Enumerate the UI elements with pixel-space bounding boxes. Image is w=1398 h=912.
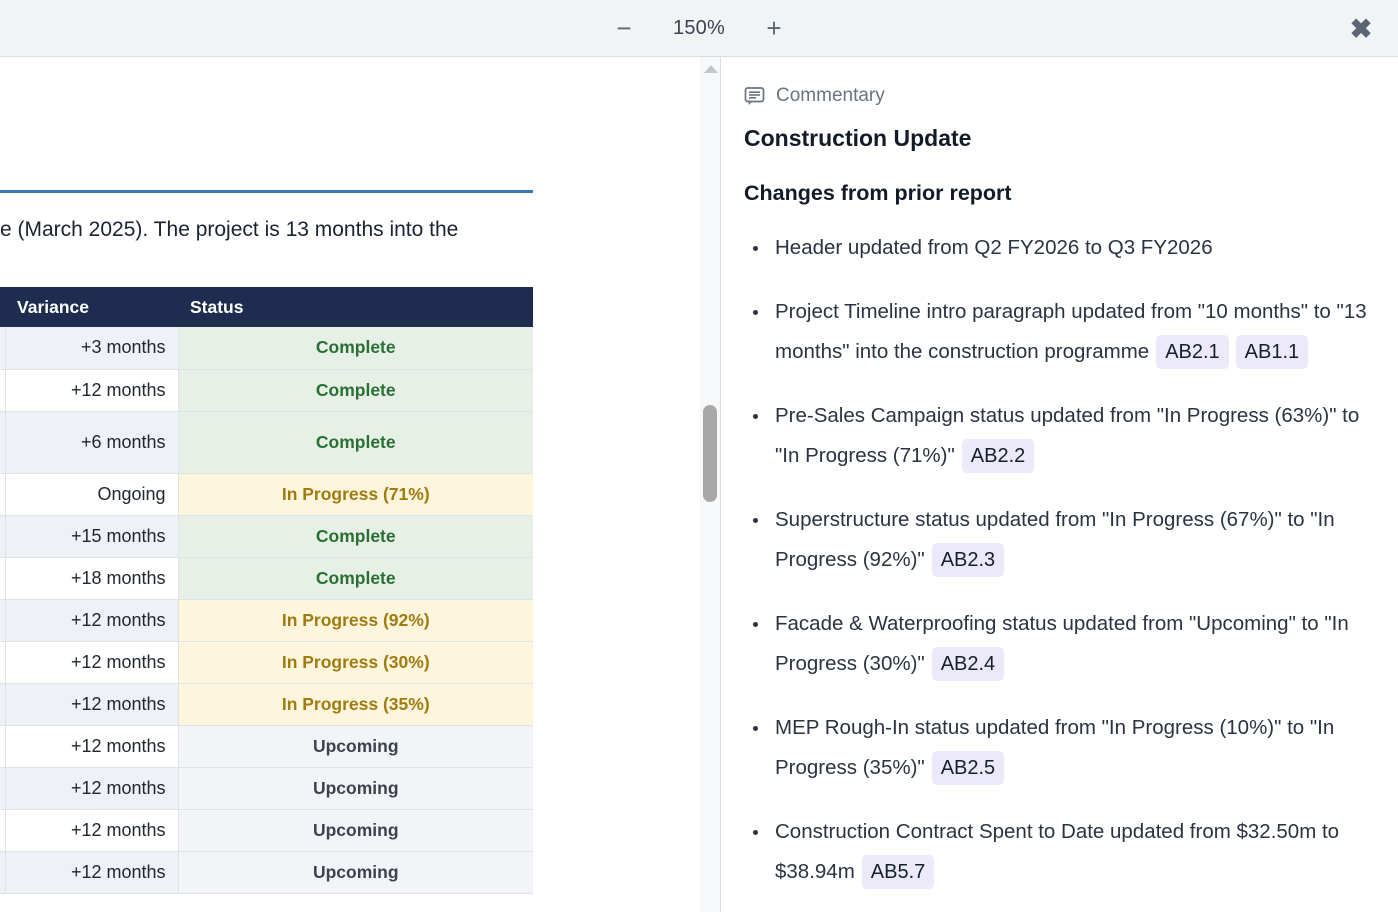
cell-status: In Progress (30%) [178,641,533,683]
cell-status: Upcoming [178,725,533,767]
reference-badge[interactable]: AB2.3 [932,543,1004,577]
table-row: OngoingIn Progress (71%) [0,473,533,515]
cell-status: In Progress (92%) [178,599,533,641]
cell-variance: +12 months [5,809,178,851]
section-divider-rule [0,190,533,193]
changes-list: Header updated from Q2 FY2026 to Q3 FY20… [744,228,1372,892]
cell-variance: +12 months [5,683,178,725]
commentary-title: Construction Update [744,125,1372,152]
change-item: MEP Rough-In status updated from "In Pro… [744,708,1372,788]
change-item-text: MEP Rough-In status updated from "In Pro… [775,716,1334,779]
zoom-out-button[interactable]: − [607,11,641,45]
reference-badge[interactable]: AB2.1 [1156,335,1228,369]
reference-badge[interactable]: AB1.1 [1236,335,1308,369]
cell-status: Upcoming [178,767,533,809]
bullet-dot [753,518,758,523]
table-row: +12 monthsIn Progress (35%) [0,683,533,725]
zoom-in-button[interactable]: + [757,11,791,45]
cell-status: Complete [178,515,533,557]
reference-badge[interactable]: AB2.4 [932,647,1004,681]
table-row: +12 monthsUpcoming [0,767,533,809]
change-item: Header updated from Q2 FY2026 to Q3 FY20… [744,228,1372,268]
cell-variance: +12 months [5,641,178,683]
reference-badge[interactable]: AB5.7 [862,855,934,889]
commentary-label: Commentary [776,85,885,107]
change-item: Project Timeline intro paragraph updated… [744,292,1372,372]
cell-variance: +18 months [5,557,178,599]
document-paragraph: e (March 2025). The project is 13 months… [0,215,545,245]
bullet-dot [753,414,758,419]
commentary-header: Commentary [744,85,1372,107]
cell-status: Complete [178,369,533,411]
reference-badge[interactable]: AB2.5 [932,751,1004,785]
table-row: +18 monthsComplete [0,557,533,599]
bullet-dot [753,246,758,251]
comment-icon [744,86,765,107]
close-button[interactable]: ✖ [1342,10,1380,48]
change-item-text: Superstructure status updated from "In P… [775,508,1335,571]
table-row: +6 monthsComplete [0,411,533,473]
change-item-text: Header updated from Q2 FY2026 to Q3 FY20… [775,236,1213,259]
cell-status: Upcoming [178,809,533,851]
table-row: +15 monthsComplete [0,515,533,557]
cell-variance: +3 months [5,327,178,369]
zoom-level-label: 150% [667,17,731,40]
cell-status: In Progress (71%) [178,473,533,515]
cell-status: Complete [178,411,533,473]
commentary-pane: Commentary Construction Update Changes f… [722,57,1398,912]
caret-up-icon[interactable] [704,65,718,73]
table-row: +12 monthsUpcoming [0,851,533,893]
table-body: +3 monthsComplete+12 monthsComplete+6 mo… [0,327,533,893]
reference-badge[interactable]: AB2.2 [962,439,1034,473]
bullet-dot [753,726,758,731]
change-item: Facade & Waterproofing status updated fr… [744,604,1372,684]
changes-heading: Changes from prior report [744,181,1372,206]
document-scrollbar[interactable] [700,57,721,912]
table-row: +12 monthsUpcoming [0,809,533,851]
change-item: Construction Contract Spent to Date upda… [744,812,1372,892]
bullet-dot [753,310,758,315]
document-pane: e (March 2025). The project is 13 months… [0,57,700,912]
change-item: Superstructure status updated from "In P… [744,500,1372,580]
cell-variance: Ongoing [5,473,178,515]
scrollbar-thumb[interactable] [703,405,717,502]
column-header-status: Status [178,287,533,327]
project-timeline-table: Variance Status +3 monthsComplete+12 mon… [0,287,533,894]
cell-variance: +12 months [5,851,178,893]
cell-status: Upcoming [178,851,533,893]
zoom-controls: − 150% + [0,0,1398,56]
cell-variance: +12 months [5,599,178,641]
cell-variance: +12 months [5,369,178,411]
table-row: +12 monthsComplete [0,369,533,411]
table-row: +12 monthsIn Progress (92%) [0,599,533,641]
cell-status: In Progress (35%) [178,683,533,725]
table-header-row: Variance Status [0,287,533,327]
cell-variance: +12 months [5,725,178,767]
cell-variance: +15 months [5,515,178,557]
cell-variance: +12 months [5,767,178,809]
column-header-variance: Variance [5,287,178,327]
table-row: +3 monthsComplete [0,327,533,369]
change-item-text: Pre-Sales Campaign status updated from "… [775,404,1359,467]
change-item: Pre-Sales Campaign status updated from "… [744,396,1372,476]
table-header: Variance Status [0,287,533,327]
cell-variance: +6 months [5,411,178,473]
cell-status: Complete [178,327,533,369]
bullet-dot [753,830,758,835]
viewer-toolbar: − 150% + ✖ [0,0,1398,57]
cell-status: Complete [178,557,533,599]
bullet-dot [753,622,758,627]
change-item-text: Construction Contract Spent to Date upda… [775,820,1339,883]
change-item-text: Facade & Waterproofing status updated fr… [775,612,1349,675]
table-row: +12 monthsIn Progress (30%) [0,641,533,683]
table-row: +12 monthsUpcoming [0,725,533,767]
